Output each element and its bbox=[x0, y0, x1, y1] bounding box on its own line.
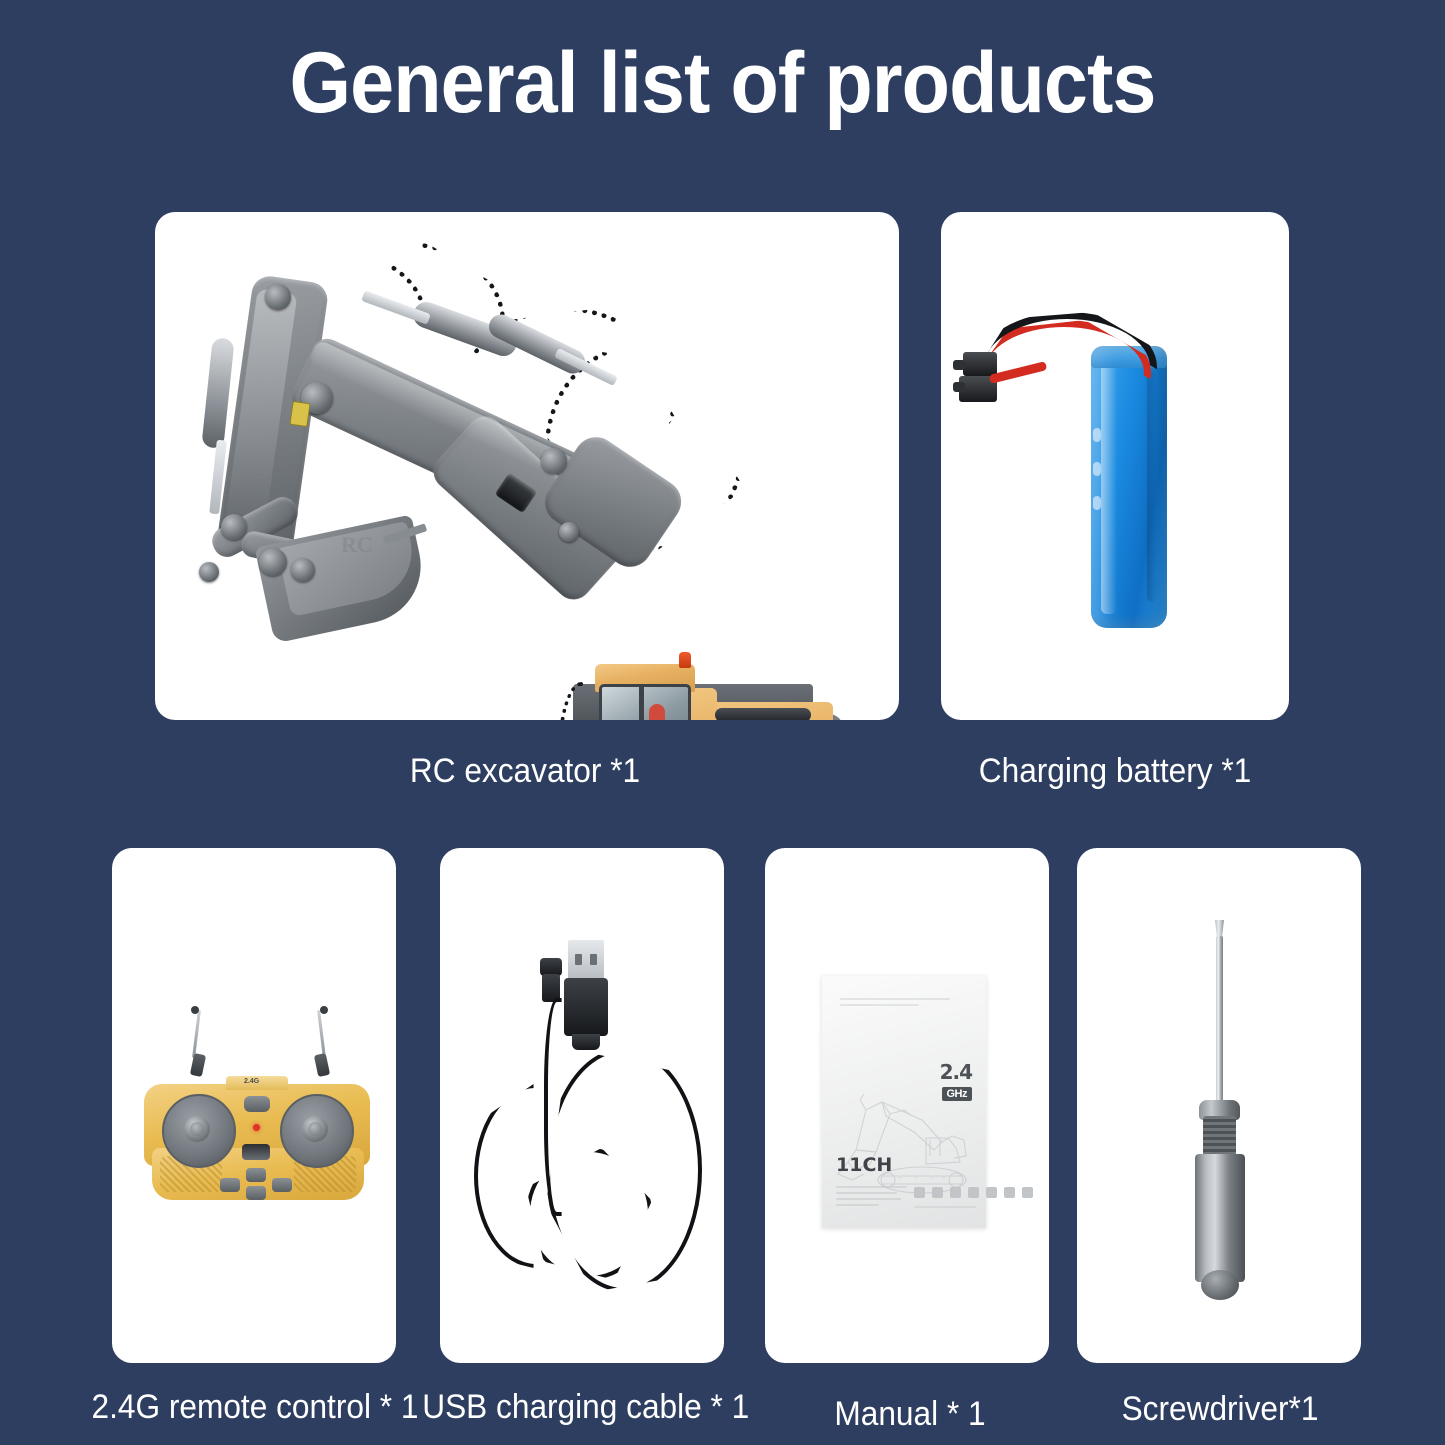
channel-count: 11CH bbox=[836, 1154, 892, 1176]
caption-charging-battery: Charging battery *1 bbox=[929, 752, 1301, 791]
mode-switch[interactable] bbox=[242, 1144, 270, 1160]
watermark: RC bbox=[341, 532, 373, 558]
product-card-usb-cable[interactable] bbox=[440, 848, 724, 1363]
caption-screwdriver: Screwdriver*1 bbox=[1090, 1390, 1350, 1429]
remote-brand-mark: 2.4G bbox=[244, 1078, 259, 1085]
manual-icon: 2.4 GHz bbox=[765, 848, 1049, 1363]
caption-remote-control: 2.4G remote control * 1 bbox=[74, 1388, 437, 1427]
power-button[interactable] bbox=[244, 1096, 270, 1112]
function-button-down[interactable] bbox=[246, 1186, 266, 1200]
caption-rc-excavator: RC excavator *1 bbox=[316, 752, 735, 791]
remote-control-icon: 2.4G bbox=[112, 848, 396, 1363]
function-icon-row bbox=[914, 1187, 1033, 1198]
screwdriver-icon bbox=[1077, 848, 1361, 1363]
product-card-rc-excavator[interactable]: RC bbox=[155, 212, 899, 720]
warning-decal-icon bbox=[289, 401, 310, 427]
function-button-left[interactable] bbox=[220, 1178, 240, 1192]
beacon-light-icon bbox=[679, 652, 691, 668]
function-button-right[interactable] bbox=[272, 1178, 292, 1192]
function-button-up[interactable] bbox=[246, 1168, 266, 1182]
caption-usb-cable: USB charging cable * 1 bbox=[422, 1388, 748, 1427]
caption-manual: Manual * 1 bbox=[780, 1395, 1040, 1434]
power-led-icon bbox=[253, 1124, 260, 1131]
product-card-charging-battery[interactable] bbox=[941, 212, 1289, 720]
excavator-icon: RC bbox=[155, 212, 899, 720]
product-card-manual[interactable]: 2.4 GHz bbox=[765, 848, 1049, 1363]
battery-icon bbox=[941, 212, 1289, 720]
usb-cable-icon bbox=[440, 848, 724, 1363]
sm-connector-icon bbox=[963, 352, 997, 376]
product-card-remote-control[interactable]: 2.4G bbox=[112, 848, 396, 1363]
product-card-screwdriver[interactable] bbox=[1077, 848, 1361, 1363]
page-title: General list of products bbox=[58, 38, 1387, 128]
